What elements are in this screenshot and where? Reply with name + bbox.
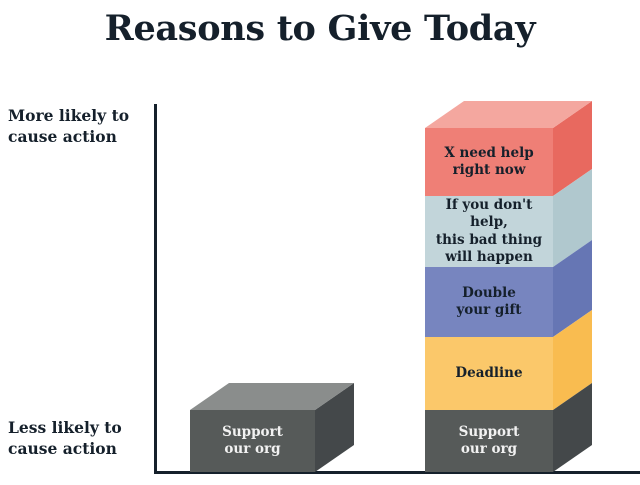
bar-segment-label: If you don't help, this bad thing will h… <box>425 197 553 267</box>
bar-segment-label: Deadline <box>449 365 528 383</box>
bar-segment-label: X need help right now <box>438 145 539 180</box>
bar-segment[interactable]: Deadline <box>425 337 553 410</box>
bar-segment[interactable]: X need help right now <box>425 128 553 196</box>
bar-segment[interactable]: Support our org <box>190 410 315 472</box>
bar-segment-label: Double your gift <box>450 285 527 320</box>
bar-segment-front-face: X need help right now <box>425 128 553 196</box>
bar-segment-label: Support our org <box>453 424 526 459</box>
bar-segment[interactable]: Support our org <box>425 410 553 472</box>
bar-segment-front-face: Support our org <box>425 410 553 472</box>
bar-segment-label: Support our org <box>216 424 289 459</box>
bar-segment-front-face: Deadline <box>425 337 553 410</box>
bar-segment-front-face: Double your gift <box>425 267 553 337</box>
bar-segment[interactable]: If you don't help, this bad thing will h… <box>425 196 553 267</box>
bar-segment-front-face: Support our org <box>190 410 315 472</box>
bar-segment[interactable]: Double your gift <box>425 267 553 337</box>
bar-segment-front-face: If you don't help, this bad thing will h… <box>425 196 553 267</box>
